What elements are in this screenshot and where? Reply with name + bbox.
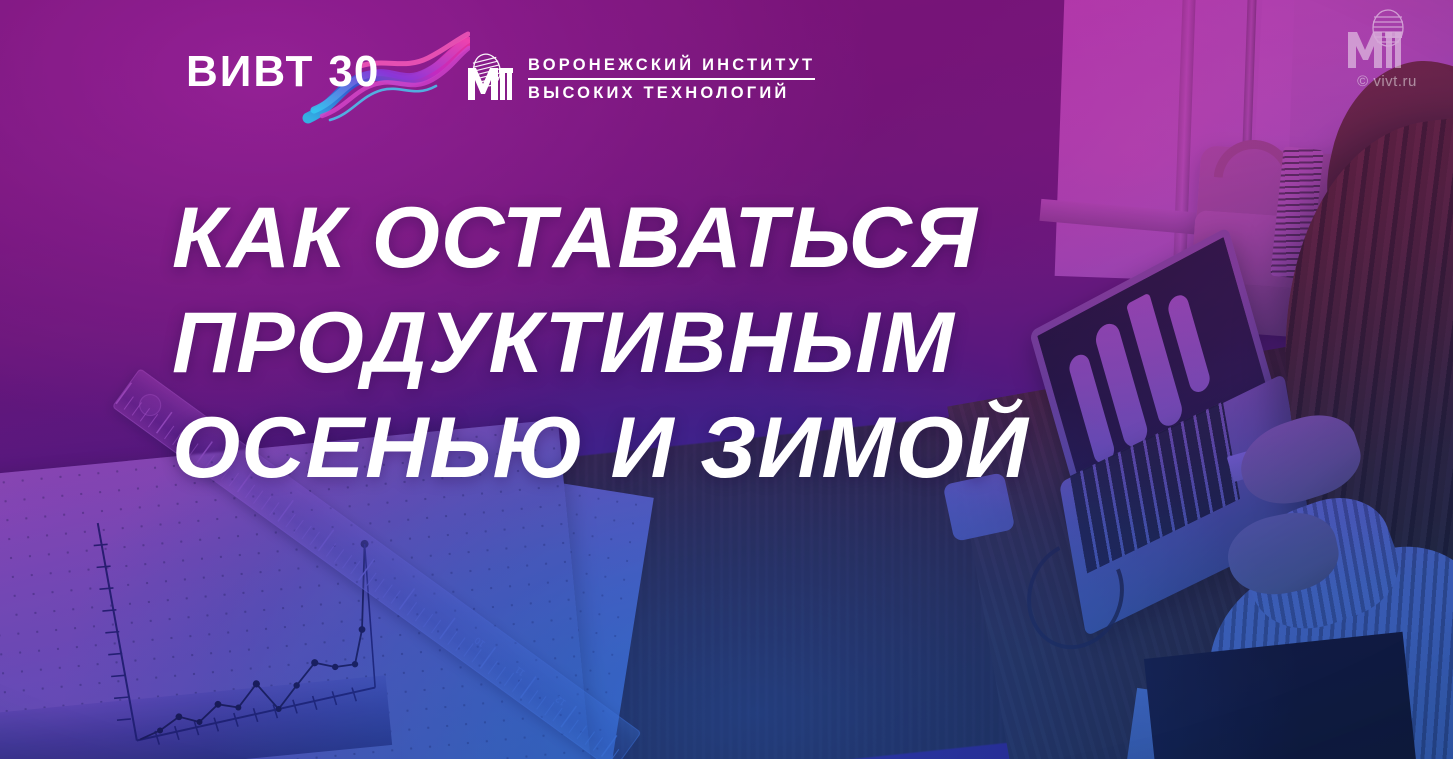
headline-line-2: ПРОДУКТИВНЫМ bbox=[172, 291, 1090, 396]
institute-name: ВОРОНЕЖСКИЙ ИНСТИТУТ ВЫСОКИХ ТЕХНОЛОГИЙ bbox=[528, 55, 815, 104]
watermark: © vivt.ru bbox=[1335, 8, 1439, 108]
brand-logo[interactable]: ВИВТ 30 bbox=[186, 50, 379, 94]
institute-name-line1: ВОРОНЕЖСКИЙ ИНСТИТУТ bbox=[528, 55, 815, 80]
brand-word: ВИВТ bbox=[186, 50, 314, 94]
watermark-credit: © vivt.ru bbox=[1335, 73, 1439, 90]
content-layer: ВИВТ 30 bbox=[0, 0, 1453, 759]
page-title: КАК ОСТАВАТЬСЯ ПРОДУКТИВНЫМ ОСЕНЬЮ И ЗИМ… bbox=[172, 186, 1072, 501]
headline-line-3: ОСЕНЬЮ И ЗИМОЙ bbox=[172, 396, 1090, 501]
vivt-m-emblem-icon bbox=[466, 52, 514, 102]
promo-banner: 10 11 12 bbox=[0, 0, 1453, 759]
vivt-m-watermark-icon bbox=[1342, 8, 1432, 72]
institute-name-line2: ВЫСОКИХ ТЕХНОЛОГИЙ bbox=[528, 80, 815, 104]
anniversary-number: 30 bbox=[328, 50, 379, 94]
headline-line-1: КАК ОСТАВАТЬСЯ bbox=[172, 186, 1090, 291]
